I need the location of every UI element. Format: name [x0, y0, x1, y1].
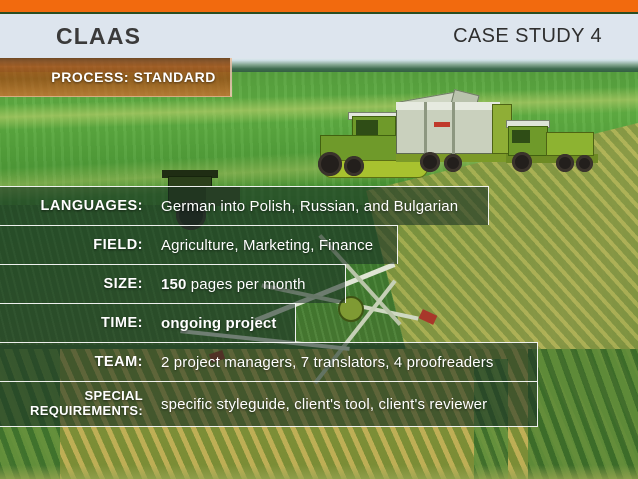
- spec-value-languages: German into Polish, Russian, and Bulgari…: [143, 198, 458, 215]
- harvester-wheel-front: [318, 152, 342, 176]
- spec-value-special-requirements: specific styleguide, client's tool, clie…: [143, 396, 487, 413]
- harvester-windshield: [356, 120, 378, 136]
- spec-label-team: TEAM:: [0, 354, 143, 370]
- trailer-rib-1: [424, 102, 427, 154]
- trailer-wheel-2: [444, 154, 462, 172]
- page-title: CLAAS: [56, 23, 141, 50]
- table-row: TEAM: 2 project managers, 7 translators,…: [0, 342, 538, 381]
- spec-value-size-number: 150: [161, 276, 186, 293]
- truck-wheel-3: [576, 155, 593, 172]
- spec-label-languages: LANGUAGES:: [0, 198, 143, 214]
- truck-windshield: [512, 130, 530, 143]
- table-row: TIME: ongoing project: [0, 303, 296, 342]
- truck-bed: [546, 132, 594, 156]
- process-banner-label: PROCESS: STANDARD: [51, 69, 216, 85]
- spec-label-special-line2: REQUIREMENTS:: [0, 404, 143, 419]
- case-study-label: CASE STUDY 4: [453, 25, 602, 48]
- trailer-box-top-rail: [396, 102, 500, 110]
- spec-label-special-requirements: SPECIAL REQUIREMENTS:: [0, 389, 143, 418]
- header-band: CLAAS CASE STUDY 4: [0, 14, 638, 58]
- spec-value-time: ongoing project: [143, 315, 277, 332]
- spec-value-team: 2 project managers, 7 translators, 4 pro…: [143, 354, 494, 371]
- table-row: FIELD: Agriculture, Marketing, Finance: [0, 225, 398, 264]
- truck-wheel-1: [512, 152, 532, 172]
- spec-label-size: SIZE:: [0, 276, 143, 292]
- spec-value-size: 150 pages per month: [143, 276, 306, 293]
- table-row: LANGUAGES: German into Polish, Russian, …: [0, 186, 489, 225]
- case-study-slide: CLAAS CASE STUDY 4 PROCESS: STANDARD LAN…: [0, 0, 638, 479]
- bottom-field-haze: [0, 465, 638, 479]
- table-row: SIZE: 150 pages per month: [0, 264, 346, 303]
- process-banner: PROCESS: STANDARD: [0, 58, 232, 97]
- spec-value-size-unit: pages per month: [186, 276, 305, 293]
- process-banner-treeline: [0, 58, 230, 66]
- trailer-wheel-1: [420, 152, 440, 172]
- spec-table: LANGUAGES: German into Polish, Russian, …: [0, 186, 638, 427]
- table-row: SPECIAL REQUIREMENTS: specific styleguid…: [0, 381, 538, 427]
- trailer-rib-2: [452, 102, 455, 154]
- spec-label-field: FIELD:: [0, 237, 143, 253]
- truck-wheel-2: [556, 154, 574, 172]
- trailer-logo-decal: [434, 122, 450, 127]
- top-accent-bar: [0, 0, 638, 12]
- spec-label-special-line1: SPECIAL: [0, 389, 143, 404]
- spec-value-field: Agriculture, Marketing, Finance: [143, 237, 373, 254]
- spec-label-time: TIME:: [0, 315, 143, 331]
- harvester-wheel-rear: [344, 156, 364, 176]
